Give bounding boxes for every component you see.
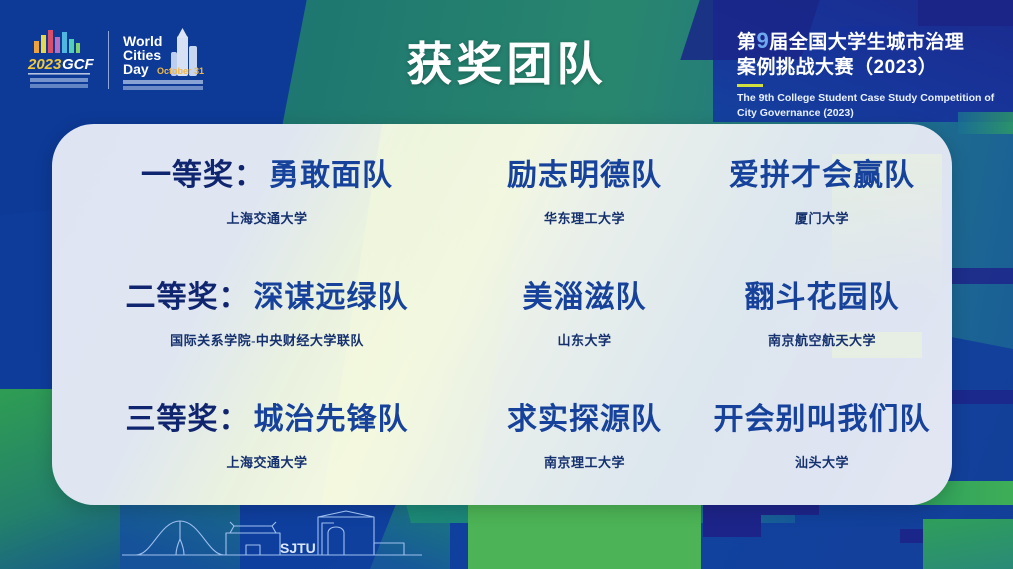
competition-title-cn: 第9届全国大学生城市治理 案例挑战大赛（2023） [737, 26, 995, 80]
award-row: 二等奖： 深谋远绿队 国际关系学院-中央财经大学联队 美淄滋队 山东大学 翻斗花… [52, 272, 952, 394]
award-cell: 爱拼才会赢队 厦门大学 [692, 150, 952, 227]
award-cell: 励志明德队 华东理工大学 [467, 150, 702, 227]
team-name: 开会别叫我们队 [692, 394, 952, 438]
award-cell: 求实探源队 南京理工大学 [467, 394, 702, 471]
slide-root: 2023 GCF World Cities Day October 31 [0, 0, 1013, 569]
awards-card: 一等奖： 勇敢面队 上海交通大学 励志明德队 华东理工大学 爱拼才会赢队 厦门大… [52, 124, 952, 505]
competition-title-block: 第9届全国大学生城市治理 案例挑战大赛（2023） The 9th Colleg… [737, 26, 995, 122]
award-cell: 三等奖： 城治先锋队 上海交通大学 [52, 394, 482, 471]
team-name: 求实探源队 [467, 394, 702, 438]
team-school: 上海交通大学 [52, 208, 482, 227]
award-cell: 一等奖： 勇敢面队 上海交通大学 [52, 150, 482, 227]
background-navy-square-3 [703, 515, 761, 537]
competition-accent-rule [737, 84, 763, 87]
prize-label: 一等奖： [141, 150, 265, 194]
team-name: 勇敢面队 [269, 150, 393, 194]
team-school: 厦门大学 [692, 208, 952, 227]
award-cell: 翻斗花园队 南京航空航天大学 [692, 272, 952, 349]
team-name: 爱拼才会赢队 [692, 150, 952, 194]
team-name: 深谋远绿队 [254, 272, 409, 316]
team-school: 华东理工大学 [467, 208, 702, 227]
award-row: 三等奖： 城治先锋队 上海交通大学 求实探源队 南京理工大学 开会别叫我们队 汕… [52, 394, 952, 505]
competition-prefix: 第 [737, 32, 757, 53]
team-name: 励志明德队 [467, 150, 702, 194]
team-school: 汕头大学 [692, 452, 952, 471]
team-school: 上海交通大学 [52, 452, 482, 471]
awards-list: 一等奖： 勇敢面队 上海交通大学 励志明德队 华东理工大学 爱拼才会赢队 厦门大… [52, 124, 952, 505]
competition-title-cn-line2: 案例挑战大赛（2023） [737, 55, 995, 80]
team-name: 翻斗花园队 [692, 272, 952, 316]
team-school: 国际关系学院-中央财经大学联队 [52, 330, 482, 349]
prize-label: 三等奖： [126, 394, 250, 438]
award-row: 一等奖： 勇敢面队 上海交通大学 励志明德队 华东理工大学 爱拼才会赢队 厦门大… [52, 150, 952, 272]
competition-title-en-line1: The 9th College Student Case Study Compe… [737, 91, 995, 106]
team-school: 南京航空航天大学 [692, 330, 952, 349]
team-school: 山东大学 [467, 330, 702, 349]
header: 2023 GCF World Cities Day October 31 [0, 0, 1013, 124]
award-cell: 开会别叫我们队 汕头大学 [692, 394, 952, 471]
competition-edition-number: 9 [757, 28, 770, 53]
competition-line1-rest: 届全国大学生城市治理 [769, 32, 964, 53]
team-name: 城治先锋队 [254, 394, 409, 438]
team-school: 南京理工大学 [467, 452, 702, 471]
prize-label: 二等奖： [126, 272, 250, 316]
team-name: 美淄滋队 [467, 272, 702, 316]
award-cell: 美淄滋队 山东大学 [467, 272, 702, 349]
award-cell: 二等奖： 深谋远绿队 国际关系学院-中央财经大学联队 [52, 272, 482, 349]
competition-title-en: The 9th College Student Case Study Compe… [737, 91, 995, 121]
sjtu-label: SJTU [280, 540, 316, 556]
sjtu-skyline-icon: SJTU [122, 499, 422, 563]
background-green-strip-right-bottom [923, 519, 1013, 569]
competition-title-en-line2: City Governance (2023) [737, 106, 995, 121]
